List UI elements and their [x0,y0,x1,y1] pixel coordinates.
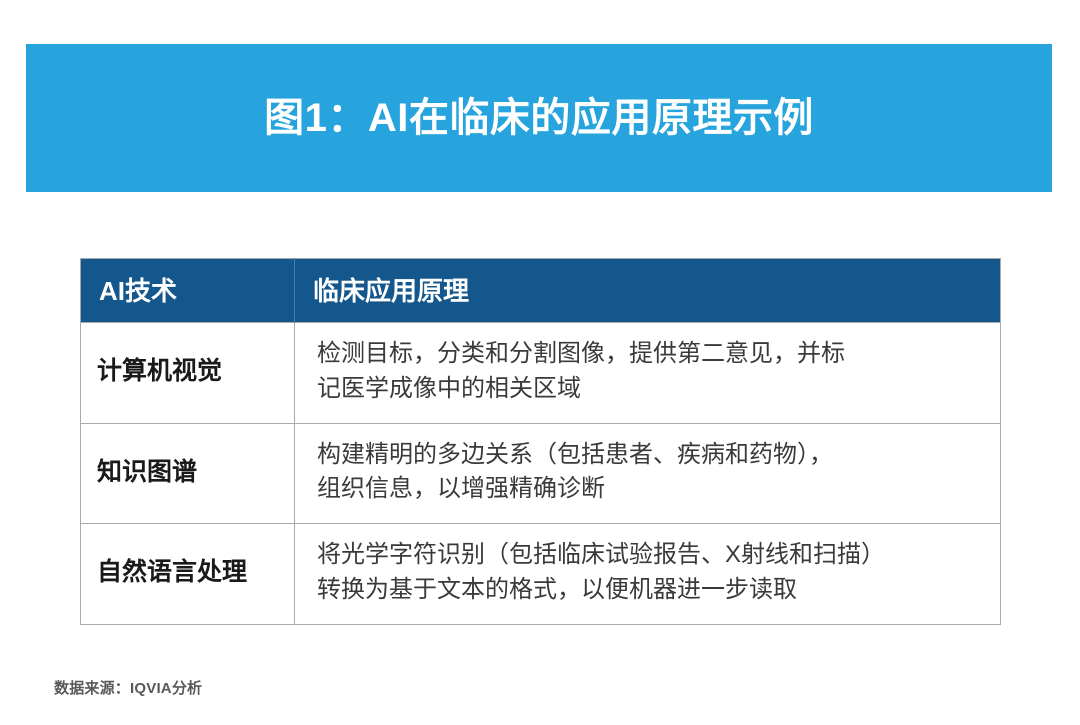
page-title: 图1：AI在临床的应用原理示例 [264,94,814,142]
table-header: AI技术 临床应用原理 [81,259,1001,323]
cell-technology: 计算机视觉 [81,323,295,424]
principles-table-container: AI技术 临床应用原理 计算机视觉 检测目标，分类和分割图像，提供第二意见，并标… [80,258,1000,625]
cell-principle-line: 转换为基于文本的格式，以便机器进一步读取 [317,573,988,608]
source-note: 数据来源：IQVIA分析 [54,677,202,698]
cell-principle: 构建精明的多边关系（包括患者、疾病和药物）， 组织信息，以增强精确诊断 [295,423,1001,524]
table-row: 计算机视觉 检测目标，分类和分割图像，提供第二意见，并标 记医学成像中的相关区域 [81,323,1001,424]
principles-table: AI技术 临床应用原理 计算机视觉 检测目标，分类和分割图像，提供第二意见，并标… [80,258,1001,625]
cell-principle-line: 将光学字符识别（包括临床试验报告、X射线和扫描） [317,538,988,573]
cell-principle: 将光学字符识别（包括临床试验报告、X射线和扫描） 转换为基于文本的格式，以便机器… [295,524,1001,625]
table-row: 知识图谱 构建精明的多边关系（包括患者、疾病和药物）， 组织信息，以增强精确诊断 [81,423,1001,524]
cell-principle-line: 构建精明的多边关系（包括患者、疾病和药物）， [317,438,988,473]
title-banner: 图1：AI在临床的应用原理示例 [26,44,1052,192]
table-body: 计算机视觉 检测目标，分类和分割图像，提供第二意见，并标 记医学成像中的相关区域… [81,323,1001,625]
cell-principle-line: 检测目标，分类和分割图像，提供第二意见，并标 [317,337,988,372]
cell-technology: 自然语言处理 [81,524,295,625]
column-header-principle: 临床应用原理 [295,259,1001,323]
column-header-technology: AI技术 [81,259,295,323]
cell-technology: 知识图谱 [81,423,295,524]
cell-principle-line: 组织信息，以增强精确诊断 [317,472,988,507]
cell-principle-line: 记医学成像中的相关区域 [317,372,988,407]
cell-principle: 检测目标，分类和分割图像，提供第二意见，并标 记医学成像中的相关区域 [295,323,1001,424]
table-row: 自然语言处理 将光学字符识别（包括临床试验报告、X射线和扫描） 转换为基于文本的… [81,524,1001,625]
table-header-row: AI技术 临床应用原理 [81,259,1001,323]
